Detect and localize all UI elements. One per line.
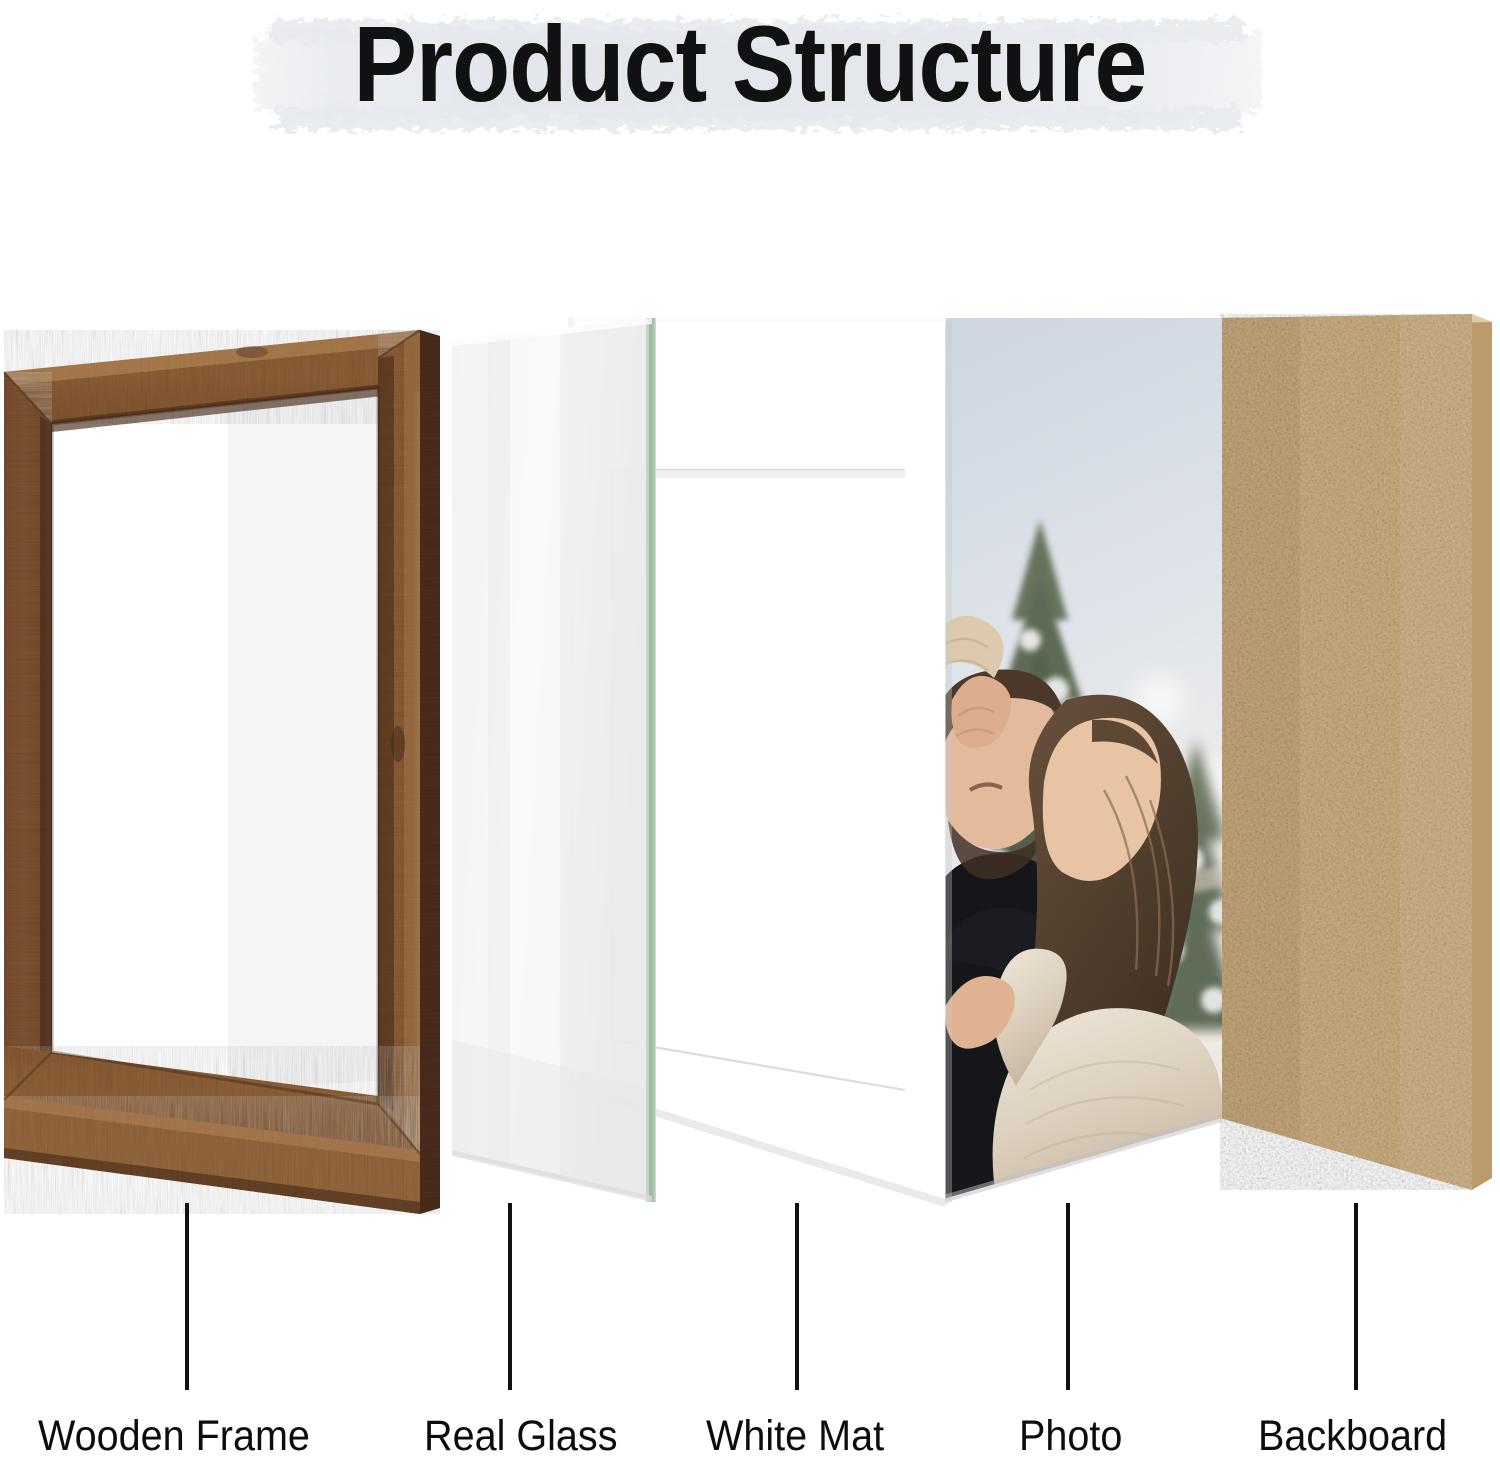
label-backboard: Backboard <box>1258 1408 1447 1464</box>
exploded-view <box>0 0 1500 1300</box>
layer-labels: Wooden Frame Real Glass White Mat Photo … <box>0 1408 1500 1472</box>
label-photo: Photo <box>1019 1408 1122 1464</box>
layer-wooden-frame <box>4 330 440 1214</box>
label-real-glass: Real Glass <box>424 1408 617 1464</box>
label-white-mat: White Mat <box>706 1408 884 1464</box>
layer-real-glass <box>452 318 656 1202</box>
label-wooden-frame: Wooden Frame <box>38 1408 310 1464</box>
layer-backboard <box>1220 314 1492 1190</box>
product-structure-infographic: Product Structure <box>0 0 1500 1472</box>
layer-photo <box>930 300 1244 1220</box>
